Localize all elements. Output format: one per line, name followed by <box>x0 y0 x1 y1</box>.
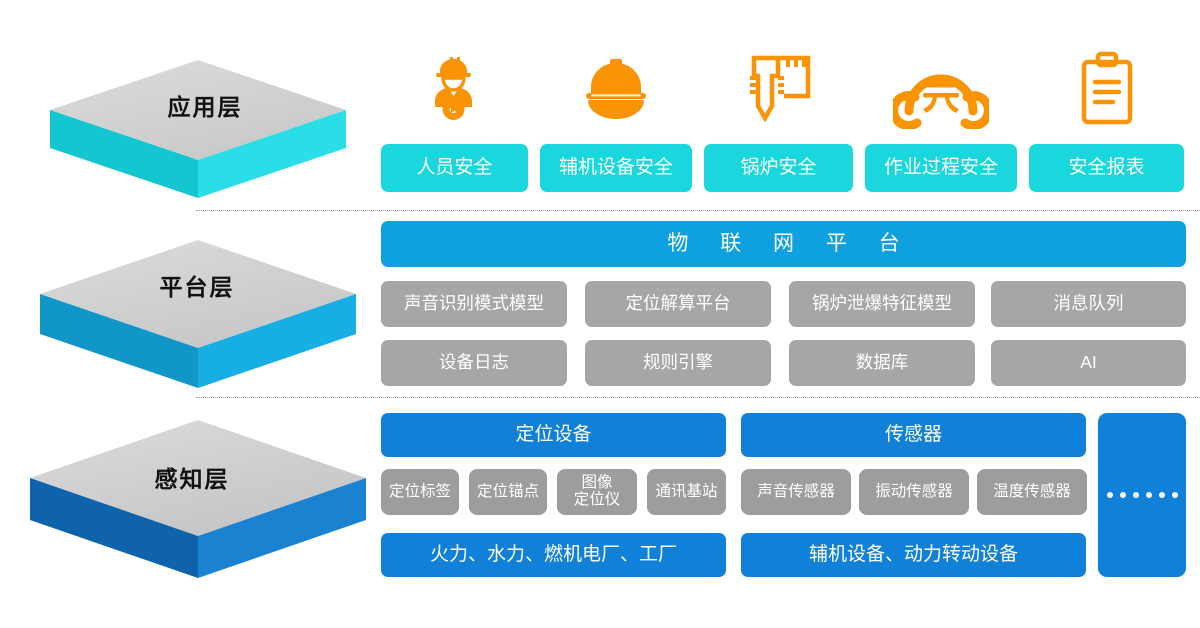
layer-label-application: 应用层 <box>120 88 290 122</box>
worker-safety-icon <box>407 46 503 132</box>
platform-module-device-log[interactable]: 设备日志 <box>381 340 567 386</box>
perception-footer-auxiliary-equipment: 辅机设备、动力转动设备 <box>741 533 1086 577</box>
platform-header-bar: 物 联 网 平 台 <box>381 221 1186 267</box>
layer-block-application <box>48 58 348 208</box>
platform-module-boiler-explosion-model[interactable]: 锅炉泄爆特征模型 <box>789 281 975 327</box>
perception-footer-power-plants: 火力、水力、燃机电厂、工厂 <box>381 533 726 577</box>
perception-chip-vibration-sensor[interactable]: 振动传感器 <box>859 469 969 515</box>
layer-block-platform <box>38 238 358 398</box>
perception-group-header-positioning-devices: 定位设备 <box>381 413 726 457</box>
layer-block-perception <box>28 418 368 590</box>
app-button-safety-report[interactable]: 安全报表 <box>1029 144 1184 192</box>
perception-chip-positioning-tag[interactable]: 定位标签 <box>381 469 459 515</box>
perception-chip-communication-base-station[interactable]: 通讯基站 <box>647 469 726 515</box>
image-locator-line1: 图像 <box>574 475 621 492</box>
layer-label-platform: 平台层 <box>112 268 282 302</box>
perception-chip-positioning-anchor[interactable]: 定位锚点 <box>469 469 547 515</box>
app-button-personnel-safety[interactable]: 人员安全 <box>381 144 528 192</box>
boiler-icon <box>731 46 827 132</box>
platform-module-positioning-solver[interactable]: 定位解算平台 <box>585 281 771 327</box>
app-button-boiler-safety[interactable]: 锅炉安全 <box>704 144 853 192</box>
safety-arc-icon <box>893 46 989 132</box>
platform-module-database[interactable]: 数据库 <box>789 340 975 386</box>
clipboard-report-icon <box>1059 46 1155 132</box>
perception-chip-image-locator[interactable]: 图像 定位仪 <box>557 469 637 515</box>
helmet-icon <box>568 46 664 132</box>
platform-module-voice-recognition-model[interactable]: 声音识别模式模型 <box>381 281 567 327</box>
layer-divider-top <box>196 210 1200 211</box>
layer-label-perception: 感知层 <box>102 460 282 494</box>
platform-module-message-queue[interactable]: 消息队列 <box>991 281 1186 327</box>
platform-module-ai[interactable]: AI <box>991 340 1186 386</box>
image-locator-line2: 定位仪 <box>574 492 621 509</box>
more-items-panel[interactable] <box>1098 413 1186 577</box>
platform-module-rule-engine[interactable]: 规则引擎 <box>585 340 771 386</box>
app-button-auxiliary-equipment-safety[interactable]: 辅机设备安全 <box>540 144 692 192</box>
perception-chip-temperature-sensor[interactable]: 温度传感器 <box>977 469 1087 515</box>
perception-group-header-sensors: 传感器 <box>741 413 1086 457</box>
app-button-operation-process-safety[interactable]: 作业过程安全 <box>865 144 1017 192</box>
perception-chip-sound-sensor[interactable]: 声音传感器 <box>741 469 851 515</box>
architecture-diagram: 应用层 平台层 <box>0 0 1200 628</box>
ellipsis-dots-icon <box>1107 492 1178 498</box>
